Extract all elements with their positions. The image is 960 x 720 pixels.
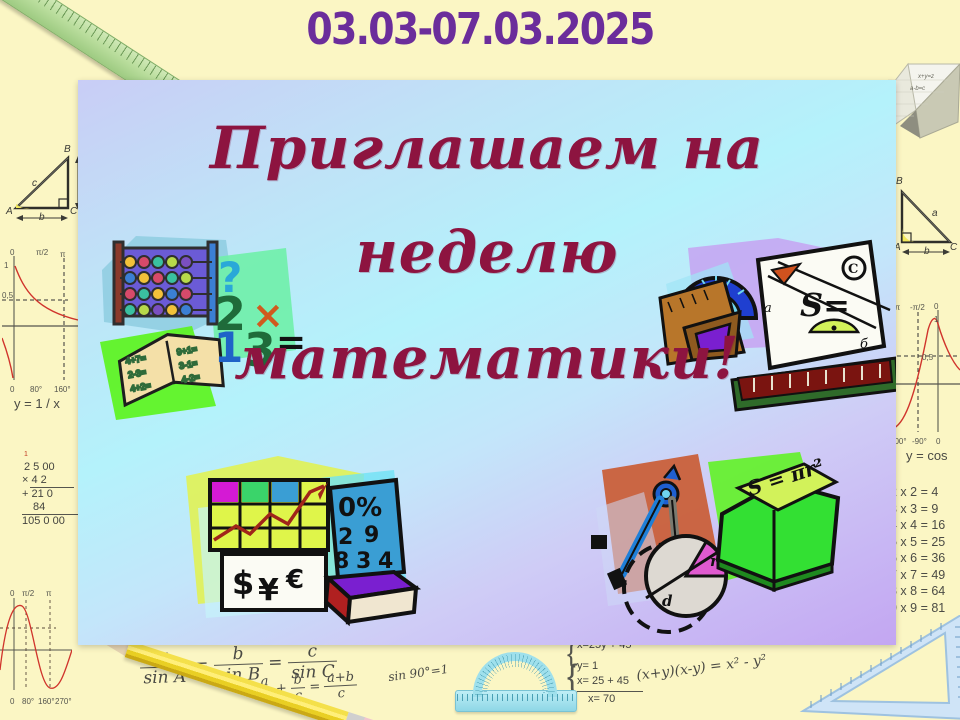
svg-text:π: π xyxy=(60,250,66,259)
svg-text:160°: 160° xyxy=(54,385,71,394)
svg-text:a-b=c: a-b=c xyxy=(910,86,925,92)
svg-text:0: 0 xyxy=(10,589,15,598)
svg-text:x+y=z: x+y=z xyxy=(917,74,934,80)
svg-text:9: 9 xyxy=(364,523,379,548)
los-n2: b xyxy=(213,643,263,666)
carry-digit: 1 xyxy=(24,448,80,461)
fs-d3: c xyxy=(324,685,358,702)
svg-text:270°: 270° xyxy=(55,697,72,706)
svg-text:0: 0 xyxy=(10,248,15,257)
svg-text:0: 0 xyxy=(936,437,941,446)
cosine-graph: -π -π/2 0 1 0,5 100° -90° 0 y = cos xyxy=(890,300,960,450)
times-table-row: 9 x 9 = 81 xyxy=(890,600,945,617)
times-table-row: 5 x 5 = 25 xyxy=(890,534,945,551)
page-title: 03.03-07.03.2025 xyxy=(67,4,893,55)
product: 105 0 00 xyxy=(22,515,80,528)
times-table-row: 7 x 7 = 49 xyxy=(890,567,945,584)
partial-product-2: 84 xyxy=(33,501,80,514)
svg-text:0,5: 0,5 xyxy=(922,353,934,362)
times-table-row: 3 x 3 = 9 xyxy=(890,501,945,518)
poster-canvas: B A C a b c 0 π/2 π 1 0,5 0 80° xyxy=(0,0,960,720)
partial-product-1: 21 0 xyxy=(32,488,53,500)
protractor-icon xyxy=(455,650,575,712)
svg-text:π/2: π/2 xyxy=(22,589,35,598)
system-line-2: x= 25 + 45 xyxy=(577,674,643,689)
system-line-1: y= 1 xyxy=(577,659,643,674)
headline-line-1: Приглашаем на xyxy=(78,98,896,198)
sin90-note: sin 90°=1 xyxy=(387,662,449,684)
svg-text:2: 2 xyxy=(338,525,353,550)
triangle-right-side-a: a xyxy=(932,208,938,219)
svg-text:-90°: -90° xyxy=(912,437,927,446)
svg-text:π: π xyxy=(46,589,52,598)
svg-text:80°: 80° xyxy=(22,697,34,706)
triangle-right-side-b: b xyxy=(924,246,930,257)
svg-text:π/2: π/2 xyxy=(36,248,49,257)
invitation-poster[interactable]: 4+7=2-3= 4+2= 9+1=3-1= 4-2= ? 2 × 1 3 = xyxy=(78,80,896,645)
svg-text:1: 1 xyxy=(4,261,9,270)
mul-operator: × xyxy=(22,474,28,486)
svg-text:4: 4 xyxy=(378,549,393,574)
triangle-side-c: c xyxy=(32,178,37,189)
triangle-vertex-a: A xyxy=(6,206,13,217)
sine-graph: 0 π/2 π 0 80° 160° 270° xyxy=(0,572,72,712)
svg-text:160°: 160° xyxy=(38,697,55,706)
triangle-right-vertex-c: C xyxy=(950,242,957,253)
svg-text:80°: 80° xyxy=(30,385,42,394)
svg-text:d: d xyxy=(662,592,673,610)
clipart-chart-currency-book: $ ¥ € 0% 2 9 8 3 4 xyxy=(178,448,428,638)
fs-n2: b xyxy=(290,672,305,689)
system-result: x= 70 xyxy=(588,692,643,707)
svg-text:1: 1 xyxy=(934,315,939,324)
times-table-row: 2 x 2 = 4 xyxy=(890,484,945,501)
headline-line-3: математики! xyxy=(78,308,896,408)
svg-text:€: € xyxy=(285,565,304,595)
svg-text:0,5: 0,5 xyxy=(2,291,14,300)
svg-text:3: 3 xyxy=(356,549,371,574)
los-eq2: = xyxy=(268,652,283,672)
headline-line-2: неделю xyxy=(78,202,896,302)
fs-eq: = xyxy=(309,679,321,695)
triangle-vertex-c: C xyxy=(70,206,77,217)
svg-text:8: 8 xyxy=(334,549,349,574)
long-multiplication: 1 2 5 00 × 4 2 + 21 0 84 105 0 00 xyxy=(22,448,80,528)
add-operator: + xyxy=(22,488,28,500)
times-table-row: 4 x 4 = 16 xyxy=(890,517,945,534)
triangle-right-vertex-b: B xyxy=(896,176,903,187)
svg-text:-π/2: -π/2 xyxy=(910,303,925,312)
times-table-row: 8 x 8 = 64 xyxy=(890,583,945,600)
hyperbola-equation-label: y = 1 / x xyxy=(14,396,60,411)
triangle-side-b: b xyxy=(39,212,45,223)
multiplier: 4 2 xyxy=(32,474,47,486)
multiplicand: 2 5 00 xyxy=(24,461,80,474)
times-table-row: 6 x 6 = 36 xyxy=(890,550,945,567)
triangle-vertex-b: B xyxy=(64,144,71,155)
svg-text:$: $ xyxy=(232,564,254,602)
poster-headline: Приглашаем на неделю математики! xyxy=(78,98,896,408)
svg-text:¥: ¥ xyxy=(258,573,279,608)
times-table: 2 x 2 = 4 3 x 3 = 9 4 x 4 = 16 5 x 5 = 2… xyxy=(890,484,945,616)
svg-text:0: 0 xyxy=(10,385,15,394)
clipart-compass-circle-book: r d S = πr² xyxy=(588,448,848,643)
hyperbola-graph: 0 π/2 π 1 0,5 0 80° 160° y = 1 / x xyxy=(2,248,80,398)
svg-text:0: 0 xyxy=(10,697,15,706)
svg-text:0: 0 xyxy=(934,302,939,311)
equation-system: { x=25y + 45 { y= 1 x= 25 + 45 x= 70 xyxy=(572,638,643,707)
svg-text:0%: 0% xyxy=(338,493,382,523)
fs-n3: a+b xyxy=(324,669,358,687)
difference-of-squares-identity: (x+y)(x-y) = x² - y² xyxy=(636,652,768,684)
cosine-equation-label: y = cos xyxy=(906,448,948,463)
